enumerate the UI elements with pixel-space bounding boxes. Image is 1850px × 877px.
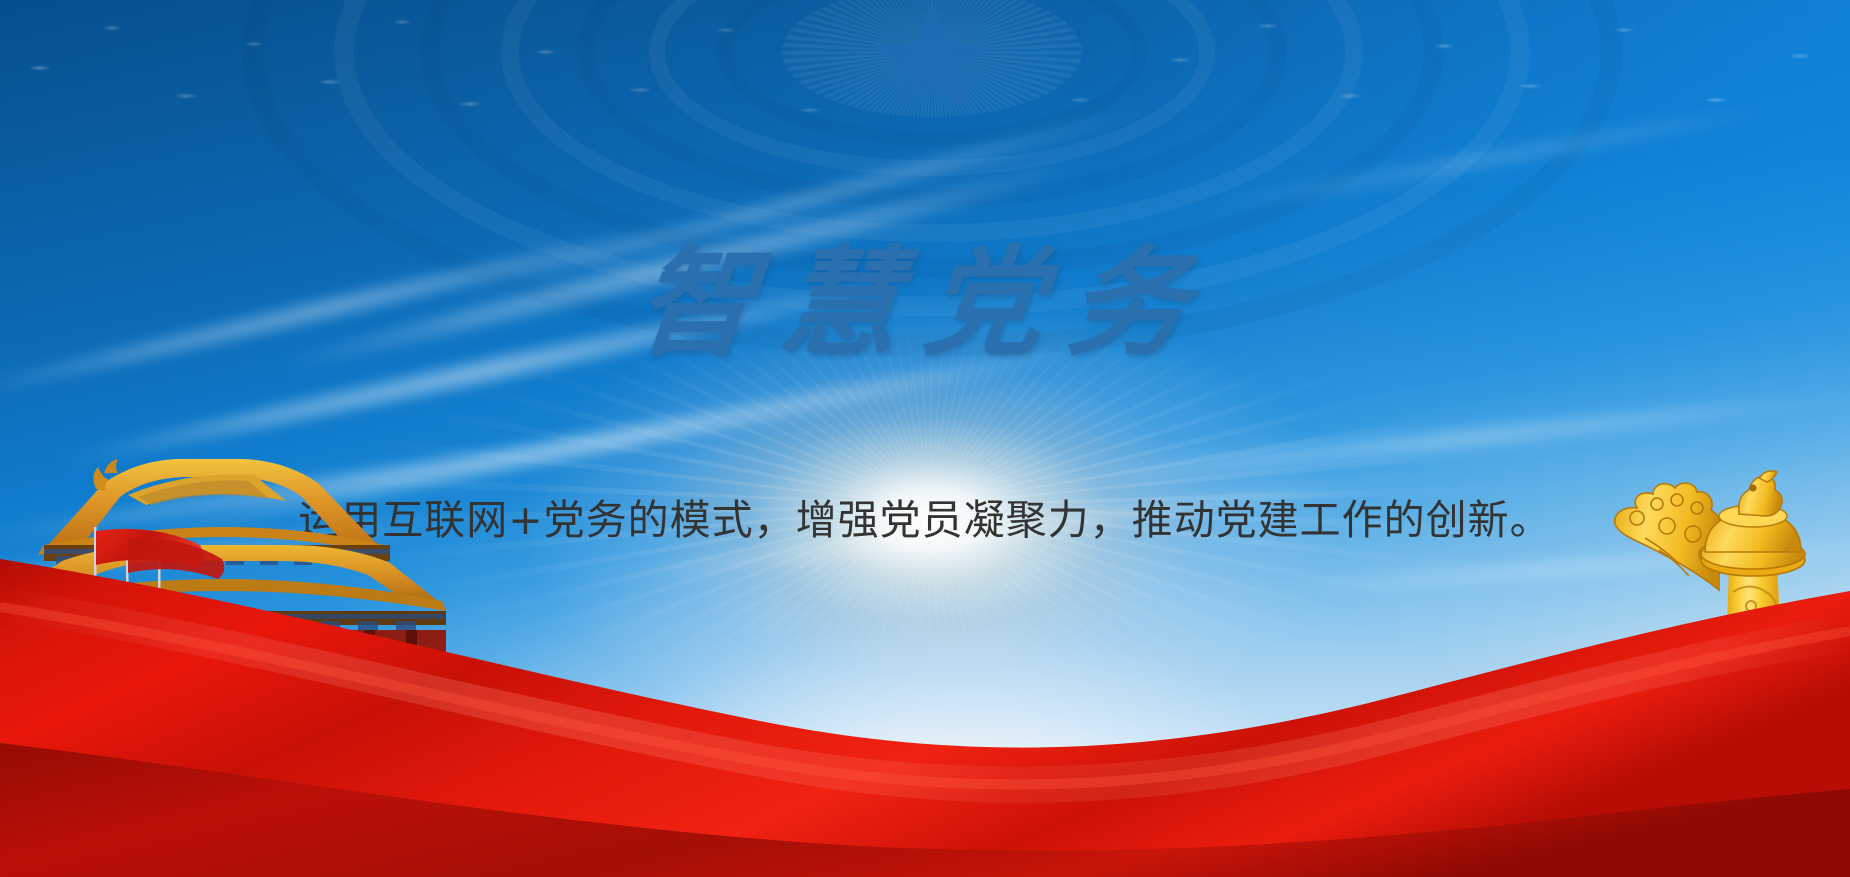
red-ribbon [0, 547, 1850, 877]
huabiao-beast-figure [1739, 471, 1782, 516]
page-title: 智慧党务 [0, 238, 1850, 368]
party-affairs-banner: 智慧党务 运用互联网+党务的模式，增强党员凝聚力，推动党建工作的创新。 [0, 0, 1850, 877]
ripple-speckles [0, 0, 1850, 120]
